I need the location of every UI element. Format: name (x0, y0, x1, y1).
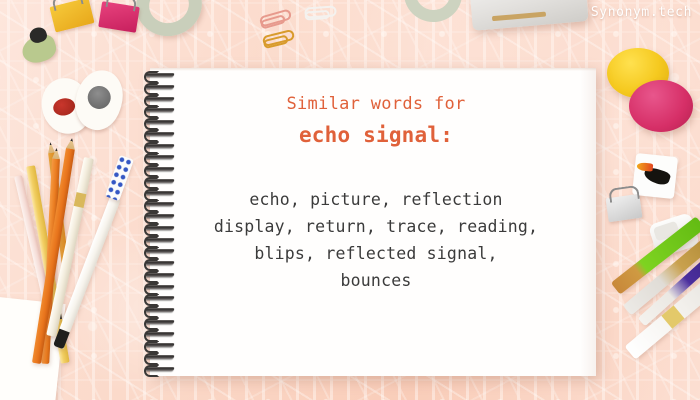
card-eyebrow: Similar words for (176, 92, 576, 116)
macaron-pink-icon (629, 80, 693, 132)
synonym-line: bounces (176, 267, 576, 294)
toucan-beak (637, 162, 654, 172)
card-headword: echo signal: (176, 120, 576, 150)
synonym-card-text: Similar words for echo signal: echo, pic… (176, 92, 576, 294)
site-watermark: Synonym.tech (591, 5, 692, 20)
synonym-line: display, return, trace, reading, (176, 213, 576, 240)
binder-clip-arm (51, 0, 83, 11)
screenshot-canvas: Similar words for echo signal: echo, pic… (0, 0, 700, 400)
synonym-line: echo, picture, reflection (176, 186, 576, 213)
synonym-line: blips, reflected signal, (176, 240, 576, 267)
camera-grip (492, 12, 546, 22)
synonym-list: echo, picture, reflection display, retur… (176, 186, 576, 294)
page-edge (150, 68, 596, 71)
paper-clip-white-icon (304, 5, 337, 18)
binder-clip-arm (105, 0, 137, 11)
binder-clip-silver-icon (605, 194, 642, 222)
binder-clip-arm (608, 185, 640, 203)
